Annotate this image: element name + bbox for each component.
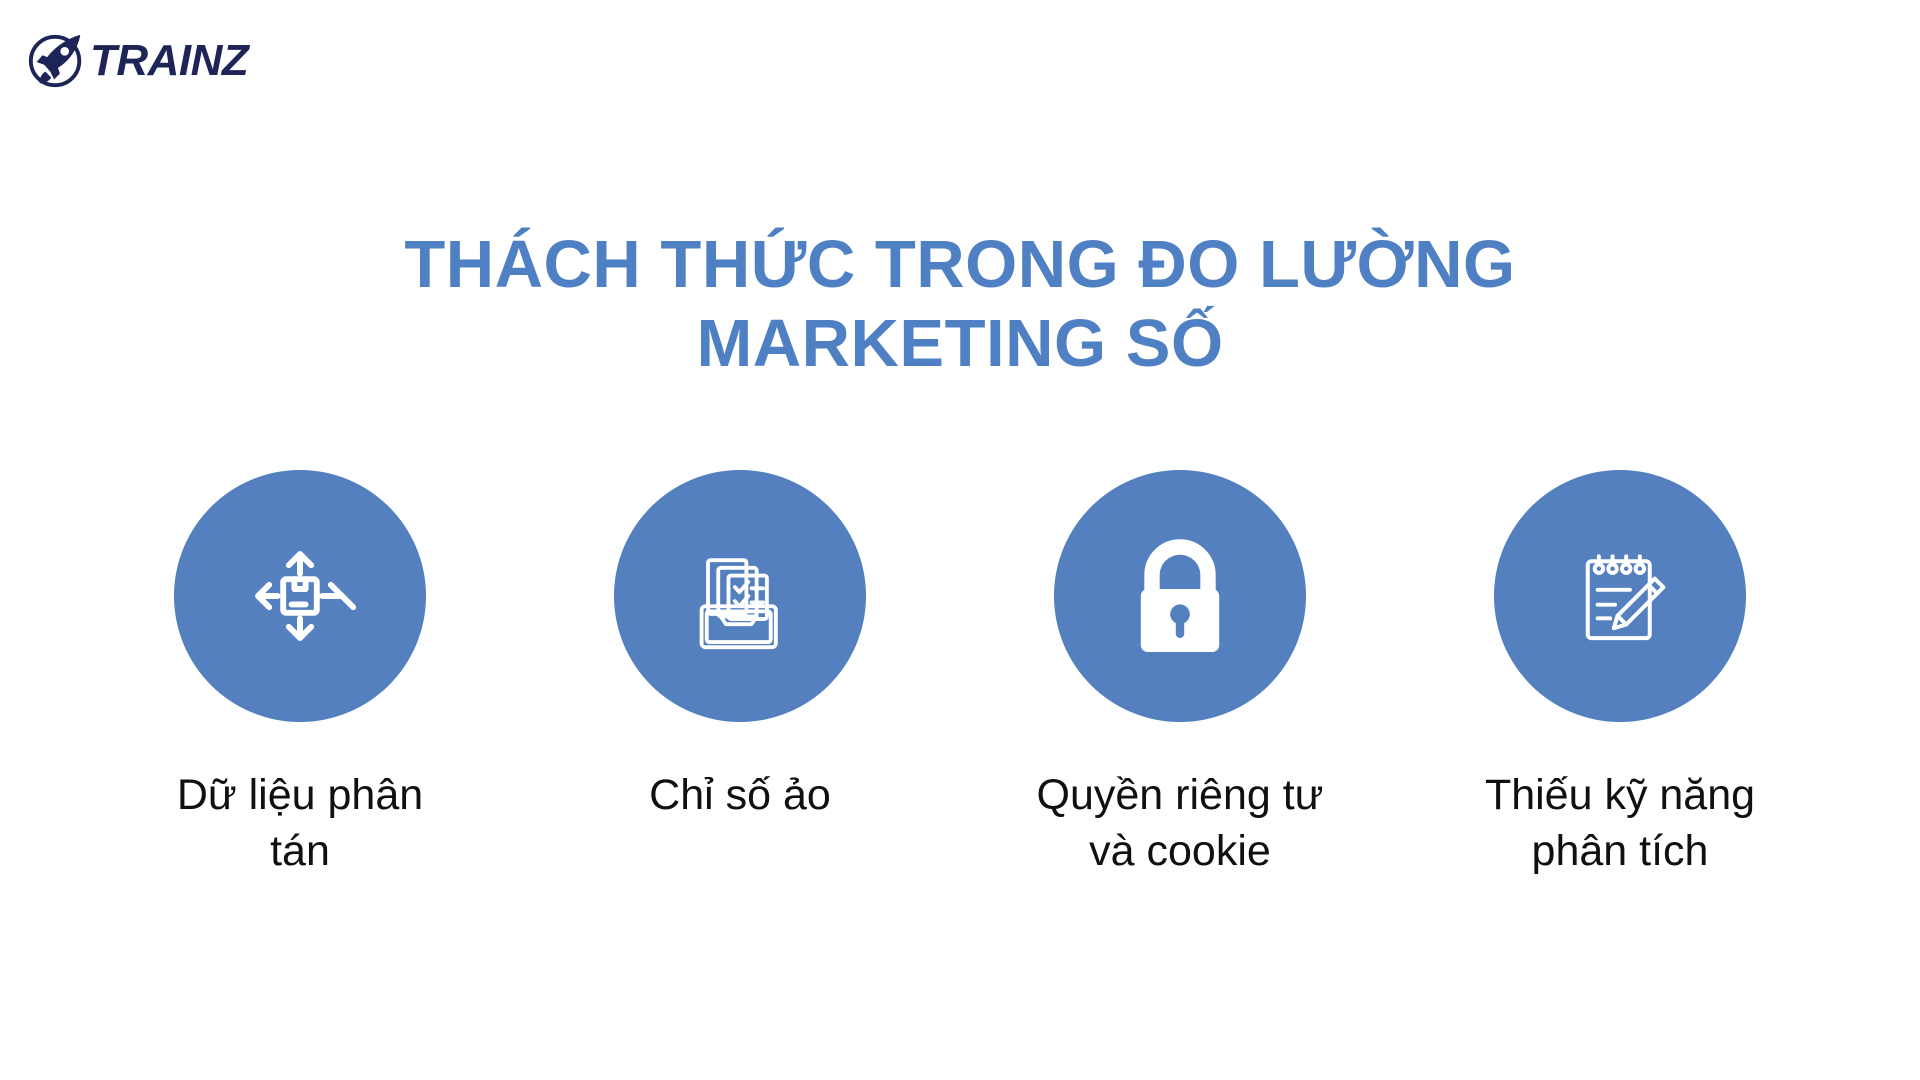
card-caption-line-2: phân tích bbox=[1532, 827, 1709, 875]
card-caption-line-1: Dữ liệu phân bbox=[177, 771, 423, 819]
page-title-line-1: THÁCH THỨC TRONG ĐO LƯỜNG bbox=[0, 225, 1920, 304]
card-analytics-skills: Thiếu kỹ năng phân tích bbox=[1460, 470, 1780, 880]
card-caption: Thiếu kỹ năng phân tích bbox=[1485, 768, 1755, 880]
page-title: THÁCH THỨC TRONG ĐO LƯỜNG MARKETING SỐ bbox=[0, 225, 1920, 383]
brand-logo: TRAINZ bbox=[26, 30, 248, 92]
padlock-icon bbox=[1110, 526, 1250, 666]
card-caption-line-1: Chỉ số ảo bbox=[649, 771, 831, 819]
box-four-arrows-scatter-icon bbox=[230, 526, 370, 666]
notepad-pencil-icon bbox=[1558, 534, 1682, 658]
icon-circle bbox=[174, 470, 426, 722]
icon-circle bbox=[1054, 470, 1306, 722]
card-vanity-metrics: Chỉ số ảo bbox=[580, 470, 900, 824]
card-caption-line-2: tán bbox=[270, 827, 330, 875]
icon-circle bbox=[1494, 470, 1746, 722]
card-caption-line-1: Thiếu kỹ năng bbox=[1485, 771, 1755, 819]
card-caption: Chỉ số ảo bbox=[649, 768, 831, 824]
card-caption-line-1: Quyền riêng tư bbox=[1037, 771, 1324, 819]
rocket-in-circle-icon bbox=[26, 30, 88, 92]
card-caption: Dữ liệu phân tán bbox=[177, 768, 423, 880]
brand-name: TRAINZ bbox=[90, 39, 248, 83]
card-caption-line-2: và cookie bbox=[1089, 827, 1271, 875]
page-title-line-2: MARKETING SỐ bbox=[0, 304, 1920, 383]
card-caption: Quyền riêng tư và cookie bbox=[1037, 768, 1324, 880]
challenge-cards: Dữ liệu phân tán bbox=[140, 470, 1780, 880]
card-privacy-cookies: Quyền riêng tư và cookie bbox=[1020, 470, 1340, 880]
documents-checklist-tray-icon bbox=[676, 532, 804, 660]
card-scattered-data: Dữ liệu phân tán bbox=[140, 470, 460, 880]
icon-circle bbox=[614, 470, 866, 722]
